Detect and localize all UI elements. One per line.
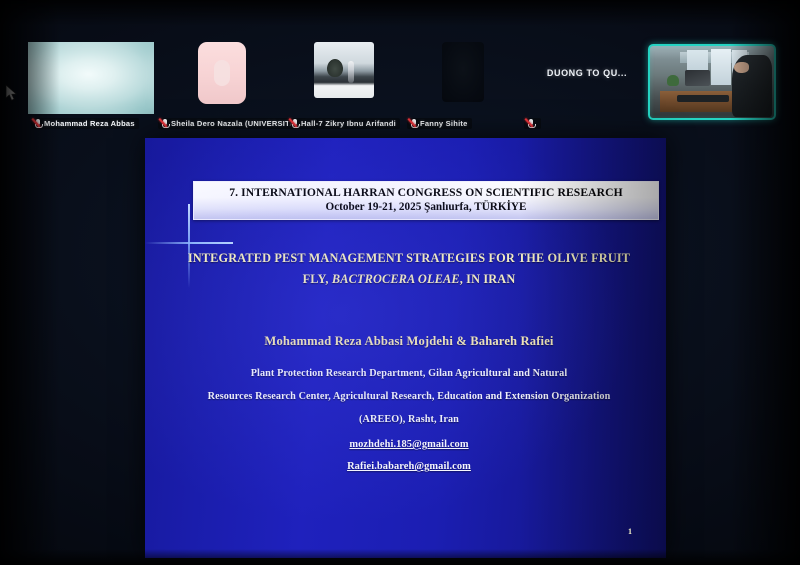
screen-photo: Mohammad Reza Abbas Sheila Dero Nazala (… [0,0,800,565]
species-name: BACTROCERA OLEAE [332,272,460,286]
congress-banner: 7. INTERNATIONAL HARRAN CONGRESS ON SCIE… [193,181,659,220]
shared-slide[interactable]: 7. INTERNATIONAL HARRAN CONGRESS ON SCIE… [145,138,666,558]
participant-video-feed[interactable] [314,42,374,98]
participant-tile-hall7-zikry-ibnu-arifandi[interactable]: Hall-7 Zikry Ibnu Arifandi [308,42,374,98]
participant-filmstrip: Mohammad Reza Abbas Sheila Dero Nazala (… [0,24,800,134]
participant-name-bar: Mohammad Reza Abbas [31,118,139,129]
participant-name-label: Mohammad Reza Abbas [44,119,135,128]
participant-tile-mohammad-reza-abbas[interactable]: Mohammad Reza Abbas [28,42,154,114]
microphone-muted-icon [34,119,41,128]
affiliation-line-1: Plant Protection Research Department, Gi… [163,363,655,386]
keyboard-shape [677,95,729,102]
participant-name-bar: Sheila Dero Nazala (UNIVERSITA... [158,118,306,129]
participant-tile-fanny-sihite[interactable]: Fanny Sihite [440,42,484,102]
participant-overlay-name: DUONG TO QU... [532,68,642,78]
participant-tile-duong-to-quoc-thai[interactable]: DUONG TO QU... [532,42,642,104]
participant-name-only-tile[interactable]: DUONG TO QU... [532,42,642,104]
participant-camera-off-tile[interactable] [442,42,484,102]
microphone-muted-icon [410,119,417,128]
email-block: mozhdehi.185@gmail.com Rafiei.babareh@gm… [163,434,655,479]
participant-tile-active-speaker[interactable] [648,44,776,120]
participant-name-label: Fanny Sihite [420,119,468,128]
mouse-pointer-icon [5,84,18,107]
affiliation-line-3: (AREEO), Rasht, Iran [163,409,655,432]
participant-name-label: Hall-7 Zikry Ibnu Arifandi [301,119,396,128]
congress-title: 7. INTERNATIONAL HARRAN CONGRESS ON SCIE… [200,186,652,200]
author-names: Mohammad Reza Abbasi Mojdehi & Bahareh R… [163,334,655,349]
microphone-muted-icon [291,119,298,128]
microphone-muted-icon [527,119,534,128]
participant-video-feed-active[interactable] [648,44,776,120]
author-block: Mohammad Reza Abbasi Mojdehi & Bahareh R… [163,334,655,432]
title-part-2: , IN IRAN [460,272,516,286]
participant-name-bar [524,118,541,129]
participant-name-bar: Hall-7 Zikry Ibnu Arifandi [288,118,400,129]
window-pane-middle-shape [711,49,731,85]
laptop-shape [685,70,710,86]
congress-date-location: October 19-21, 2025 Şanlıurfa, TÜRKİYE [200,200,652,215]
slide-number: 1 [628,527,632,536]
face-shape [734,62,749,74]
email-link-secondary[interactable]: Rafiei.babareh@gmail.com [347,456,471,478]
participant-avatar-placeholder[interactable] [198,42,246,104]
presentation-title: INTEGRATED PEST MANAGEMENT STRATEGIES FO… [185,248,633,290]
email-link-primary[interactable]: mozhdehi.185@gmail.com [349,434,468,456]
tree-shape [327,59,343,77]
participant-name-label: Sheila Dero Nazala (UNIVERSITA... [171,119,302,128]
affiliation-line-2: Resources Research Center, Agricultural … [163,386,655,409]
participant-tile-sheila-dero-nazala[interactable]: Sheila Dero Nazala (UNIVERSITA... [190,42,246,104]
person-shape [348,61,354,83]
participant-video-feed[interactable] [28,42,154,114]
plant-shape [667,75,678,87]
participant-name-bar: Fanny Sihite [407,118,472,129]
avatar-silhouette-icon [214,60,230,86]
microphone-muted-icon [161,119,168,128]
